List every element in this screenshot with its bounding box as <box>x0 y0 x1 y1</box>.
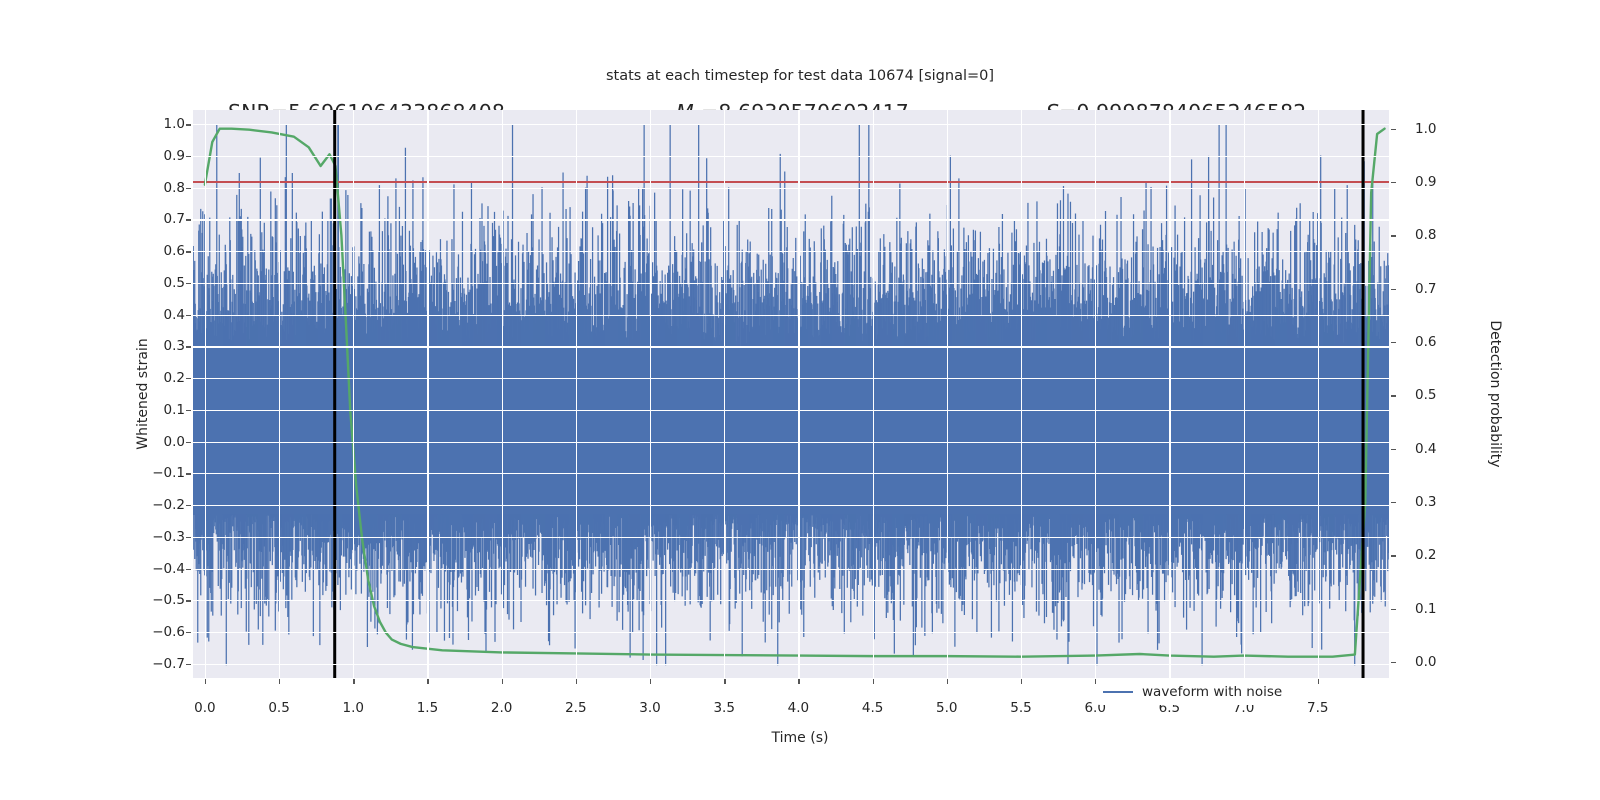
y-tick-mark-right-4 <box>1391 342 1396 343</box>
y-tick-mark-left-10 <box>186 442 191 443</box>
gridline-horizontal-17 <box>193 664 1389 665</box>
gridline-horizontal-0 <box>193 124 1389 125</box>
gridline-vertical-14 <box>1244 110 1245 678</box>
gridline-horizontal-15 <box>193 600 1389 601</box>
gridline-vertical-7 <box>724 110 725 678</box>
legend-swatch-waveform <box>1103 691 1133 693</box>
x-tick-label-1: 0.5 <box>244 700 314 716</box>
y-tick-label-left-14: −0.4 <box>125 561 185 577</box>
gridline-horizontal-14 <box>193 569 1389 570</box>
gridline-horizontal-10 <box>193 442 1389 443</box>
y-tick-label-left-1: 0.9 <box>125 148 185 164</box>
x-tick-mark-5 <box>576 679 577 684</box>
x-tick-label-5: 2.5 <box>541 700 611 716</box>
y-tick-mark-right-8 <box>1391 555 1396 556</box>
y-tick-label-right-2: 0.8 <box>1415 227 1475 243</box>
y-tick-label-left-12: −0.2 <box>125 497 185 513</box>
y-tick-mark-left-8 <box>186 378 191 379</box>
x-tick-label-11: 5.5 <box>986 700 1056 716</box>
gridline-vertical-4 <box>502 110 503 678</box>
gridline-vertical-11 <box>1021 110 1022 678</box>
x-tick-mark-6 <box>650 679 651 684</box>
y-tick-mark-right-9 <box>1391 609 1396 610</box>
x-tick-mark-1 <box>279 679 280 684</box>
x-tick-label-10: 5.0 <box>912 700 982 716</box>
chart-title: stats at each timestep for test data 106… <box>0 68 1600 84</box>
y-tick-label-left-9: 0.1 <box>125 402 185 418</box>
y-tick-mark-right-10 <box>1391 662 1396 663</box>
y-tick-label-left-10: 0.0 <box>125 434 185 450</box>
y-tick-label-left-17: −0.7 <box>125 656 185 672</box>
y-tick-mark-left-3 <box>186 219 191 220</box>
y-tick-mark-right-1 <box>1391 182 1396 183</box>
gridline-vertical-9 <box>873 110 874 678</box>
y-tick-label-right-4: 0.6 <box>1415 334 1475 350</box>
y-tick-label-right-0: 1.0 <box>1415 121 1475 137</box>
y-tick-label-right-3: 0.7 <box>1415 281 1475 297</box>
x-tick-label-2: 1.0 <box>318 700 388 716</box>
y-tick-label-left-3: 0.7 <box>125 211 185 227</box>
gridline-vertical-8 <box>798 110 799 678</box>
gridline-vertical-0 <box>205 110 206 678</box>
x-tick-mark-7 <box>724 679 725 684</box>
figure-canvas: stats at each timestep for test data 106… <box>0 0 1600 800</box>
y-tick-label-left-0: 1.0 <box>125 116 185 132</box>
y-tick-mark-left-17 <box>186 664 191 665</box>
gridline-vertical-6 <box>650 110 651 678</box>
y-tick-mark-left-2 <box>186 188 191 189</box>
gridline-horizontal-3 <box>193 219 1389 220</box>
x-tick-mark-0 <box>205 679 206 684</box>
gridline-horizontal-8 <box>193 378 1389 379</box>
y-tick-mark-left-12 <box>186 505 191 506</box>
gridline-vertical-12 <box>1095 110 1096 678</box>
x-tick-label-8: 4.0 <box>763 700 833 716</box>
y-tick-label-right-7: 0.3 <box>1415 494 1475 510</box>
x-tick-mark-11 <box>1021 679 1022 684</box>
gridline-horizontal-9 <box>193 410 1389 411</box>
y-tick-mark-left-5 <box>186 283 191 284</box>
y-tick-label-left-11: −0.1 <box>125 465 185 481</box>
gridline-vertical-10 <box>947 110 948 678</box>
y-tick-mark-left-9 <box>186 410 191 411</box>
y-tick-mark-right-0 <box>1391 129 1396 130</box>
x-tick-label-3: 1.5 <box>392 700 462 716</box>
x-tick-label-0: 0.0 <box>170 700 240 716</box>
y-tick-label-left-7: 0.3 <box>125 338 185 354</box>
y-tick-mark-left-15 <box>186 600 191 601</box>
x-tick-label-4: 2.0 <box>467 700 537 716</box>
gridline-horizontal-6 <box>193 315 1389 316</box>
x-tick-label-9: 4.5 <box>838 700 908 716</box>
y-tick-label-left-6: 0.4 <box>125 307 185 323</box>
y-tick-mark-left-16 <box>186 632 191 633</box>
y-tick-label-left-5: 0.5 <box>125 275 185 291</box>
y-tick-label-left-4: 0.6 <box>125 243 185 259</box>
y-tick-mark-left-14 <box>186 569 191 570</box>
y-tick-mark-left-13 <box>186 537 191 538</box>
legend-label-waveform: waveform with noise <box>1142 684 1282 700</box>
x-tick-mark-9 <box>873 679 874 684</box>
gridline-vertical-5 <box>576 110 577 678</box>
gridline-vertical-1 <box>279 110 280 678</box>
y-tick-label-right-8: 0.2 <box>1415 547 1475 563</box>
y-tick-mark-left-0 <box>186 124 191 125</box>
x-tick-mark-2 <box>353 679 354 684</box>
gridline-vertical-15 <box>1318 110 1319 678</box>
gridline-horizontal-4 <box>193 251 1389 252</box>
x-tick-label-6: 3.0 <box>615 700 685 716</box>
gridline-horizontal-13 <box>193 537 1389 538</box>
gridline-horizontal-12 <box>193 505 1389 506</box>
y-tick-label-right-1: 0.9 <box>1415 174 1475 190</box>
y-tick-label-left-16: −0.6 <box>125 624 185 640</box>
y-tick-label-left-15: −0.5 <box>125 592 185 608</box>
gridline-horizontal-11 <box>193 473 1389 474</box>
y-tick-label-right-5: 0.5 <box>1415 387 1475 403</box>
y-tick-mark-left-4 <box>186 251 191 252</box>
y-tick-mark-left-6 <box>186 315 191 316</box>
y-tick-mark-left-7 <box>186 346 191 347</box>
y-axis-label-right: Detection probability <box>1487 110 1503 678</box>
x-tick-mark-15 <box>1318 679 1319 684</box>
gridline-horizontal-1 <box>193 156 1389 157</box>
y-tick-label-left-13: −0.3 <box>125 529 185 545</box>
y-tick-label-right-6: 0.4 <box>1415 441 1475 457</box>
gridline-horizontal-16 <box>193 632 1389 633</box>
waveform-core-band <box>193 346 1389 514</box>
y-tick-label-right-9: 0.1 <box>1415 601 1475 617</box>
x-tick-mark-8 <box>798 679 799 684</box>
x-tick-mark-4 <box>502 679 503 684</box>
y-tick-mark-left-11 <box>186 473 191 474</box>
x-axis-label: Time (s) <box>0 730 1600 746</box>
gridline-horizontal-5 <box>193 283 1389 284</box>
gridline-vertical-2 <box>353 110 354 678</box>
gridline-vertical-13 <box>1169 110 1170 678</box>
x-tick-label-15: 7.5 <box>1283 700 1353 716</box>
y-tick-mark-left-1 <box>186 156 191 157</box>
y-tick-label-right-10: 0.0 <box>1415 654 1475 670</box>
gridline-vertical-3 <box>427 110 428 678</box>
x-tick-mark-10 <box>947 679 948 684</box>
y-tick-label-left-8: 0.2 <box>125 370 185 386</box>
data-series-layer <box>193 110 1389 678</box>
x-tick-label-7: 3.5 <box>689 700 759 716</box>
y-axis-label-left: Whitened strain <box>135 110 151 678</box>
y-tick-mark-right-3 <box>1391 289 1396 290</box>
y-tick-mark-right-7 <box>1391 502 1396 503</box>
gridline-horizontal-7 <box>193 346 1389 347</box>
plot-area <box>193 110 1389 678</box>
y-tick-label-left-2: 0.8 <box>125 180 185 196</box>
y-tick-mark-right-2 <box>1391 235 1396 236</box>
legend[interactable]: waveform with noise <box>1096 679 1291 705</box>
gridline-horizontal-2 <box>193 188 1389 189</box>
y-tick-mark-right-5 <box>1391 395 1396 396</box>
x-tick-mark-3 <box>427 679 428 684</box>
y-tick-mark-right-6 <box>1391 449 1396 450</box>
